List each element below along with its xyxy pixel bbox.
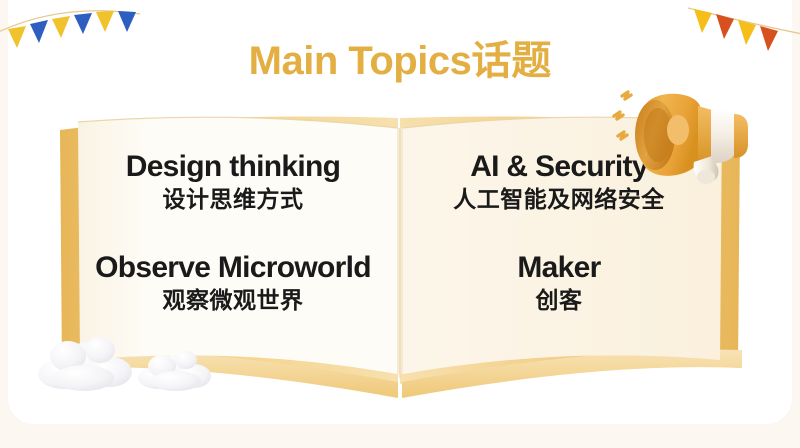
bunting-flag [760,26,778,51]
bunting-flag [694,9,712,33]
megaphone-driver [667,115,689,145]
megaphone-icon [608,78,756,186]
megaphone-sound-waves [614,92,631,139]
topic-title-en: Maker [404,253,714,283]
slide-canvas: Main Topics话题 Design thinking 设计思维方式 Obs… [0,0,800,448]
bunting-flag [74,13,92,34]
megaphone-body [711,109,736,163]
bunting-flags-right [648,0,800,62]
topic-title-cn: 设计思维方式 [72,188,394,211]
topic-title-cn: 创客 [404,289,714,312]
megaphone-neck-ring [698,106,712,164]
bunting-flag [30,20,48,43]
bunting-flag [52,16,70,38]
topic-design-thinking: Design thinking 设计思维方式 [72,152,394,211]
page-title-english: Main Topics [249,39,472,83]
cloud-small [138,351,211,391]
cloud-decoration [28,328,238,394]
bunting-flag [96,11,114,32]
cloud-large [38,337,132,391]
topic-title-en: Observe Microworld [72,253,394,283]
bunting-flags-left [0,0,150,62]
bunting-flag [118,11,136,32]
topic-title-en: Design thinking [72,152,394,182]
topic-title-cn: 观察微观世界 [72,289,394,312]
bunting-flag [716,14,734,39]
topic-observe-microworld: Observe Microworld 观察微观世界 [72,253,394,312]
bunting-flag [8,26,26,48]
topic-title-cn: 人工智能及网络安全 [404,188,714,211]
megaphone-grip [697,170,715,184]
page-title-chinese: 话题 [471,39,551,83]
megaphone-rear-cap [734,114,748,158]
topic-maker: Maker 创客 [404,253,714,312]
book-left-page-content: Design thinking 设计思维方式 Observe Microworl… [72,152,394,312]
